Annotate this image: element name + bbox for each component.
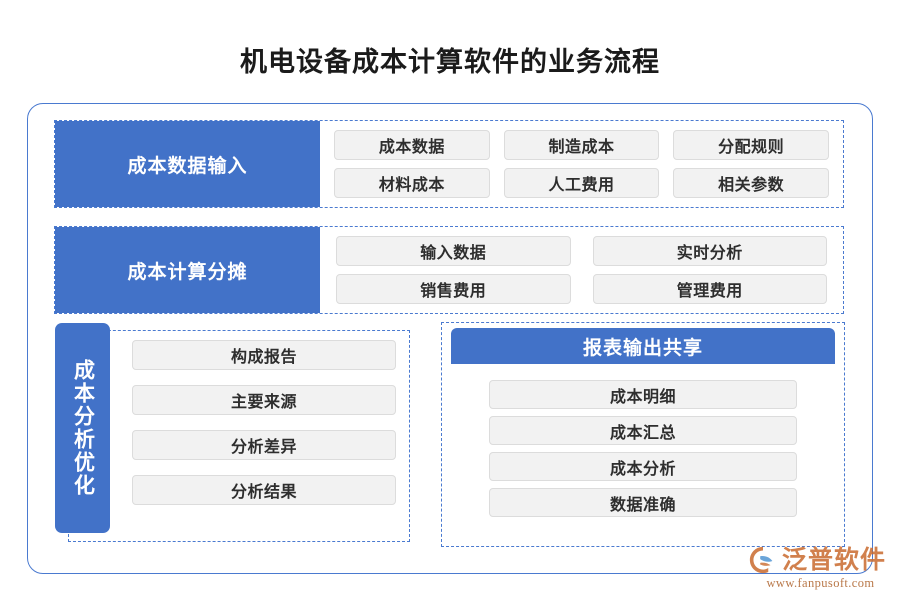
brand-logo: 泛普软件 www.fanpusoft.com bbox=[748, 545, 893, 593]
chip-grid-cost-data-input: 成本数据 制造成本 分配规则 材料成本 人工费用 相关参数 bbox=[320, 121, 843, 207]
section-label-cost-calculation-allocation: 成本计算分摊 bbox=[55, 227, 320, 313]
section-cost-calculation-allocation: 成本计算分摊 输入数据 实时分析 销售费用 管理费用 bbox=[54, 226, 844, 314]
chip-item[interactable]: 分析结果 bbox=[132, 475, 396, 505]
chip-item[interactable]: 成本汇总 bbox=[489, 416, 797, 445]
section-cost-analysis-optimization: 成本分析优化 构成报告 主要来源 分析差异 分析结果 bbox=[68, 330, 410, 542]
chip-item[interactable]: 成本数据 bbox=[334, 130, 490, 160]
section-cost-data-input: 成本数据输入 成本数据 制造成本 分配规则 材料成本 人工费用 相关参数 bbox=[54, 120, 844, 208]
chip-item[interactable]: 分配规则 bbox=[673, 130, 829, 160]
fanpu-leaf-icon bbox=[748, 545, 778, 575]
chip-item[interactable]: 成本明细 bbox=[489, 380, 797, 409]
chip-item[interactable]: 管理费用 bbox=[593, 274, 828, 304]
chip-grid-cost-calculation-allocation: 输入数据 实时分析 销售费用 管理费用 bbox=[320, 227, 843, 313]
chip-item[interactable]: 成本分析 bbox=[489, 452, 797, 481]
section-report-output-sharing: 报表输出共享 成本明细 成本汇总 成本分析 数据准确 bbox=[441, 322, 845, 547]
chip-list-report-output-sharing: 成本明细 成本汇总 成本分析 数据准确 bbox=[489, 380, 797, 526]
section-label-report-output-sharing: 报表输出共享 bbox=[451, 328, 835, 364]
brand-logo-row: 泛普软件 bbox=[748, 545, 893, 575]
chip-item[interactable]: 输入数据 bbox=[336, 236, 571, 266]
chip-item[interactable]: 相关参数 bbox=[673, 168, 829, 198]
section-label-cost-analysis-optimization: 成本分析优化 bbox=[55, 323, 110, 533]
chip-item[interactable]: 销售费用 bbox=[336, 274, 571, 304]
chip-item[interactable]: 构成报告 bbox=[132, 340, 396, 370]
brand-name: 泛普软件 bbox=[782, 545, 886, 575]
chip-item[interactable]: 材料成本 bbox=[334, 168, 490, 198]
chip-item[interactable]: 制造成本 bbox=[504, 130, 660, 160]
chip-item[interactable]: 主要来源 bbox=[132, 385, 396, 415]
chip-item[interactable]: 数据准确 bbox=[489, 488, 797, 517]
chip-item[interactable]: 人工费用 bbox=[504, 168, 660, 198]
chip-item[interactable]: 实时分析 bbox=[593, 236, 828, 266]
chip-item[interactable]: 分析差异 bbox=[132, 430, 396, 460]
page-title: 机电设备成本计算软件的业务流程 bbox=[0, 46, 900, 78]
section-label-cost-data-input: 成本数据输入 bbox=[55, 121, 320, 207]
chip-list-cost-analysis-optimization: 构成报告 主要来源 分析差异 分析结果 bbox=[132, 340, 396, 520]
brand-url: www.fanpusoft.com bbox=[748, 576, 893, 591]
